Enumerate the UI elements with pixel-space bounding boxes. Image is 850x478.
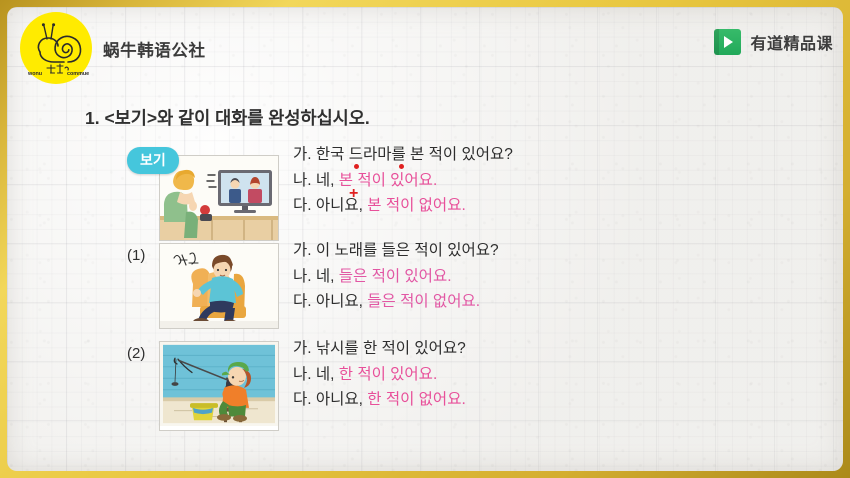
partner-name: 有道精品课 [750,30,833,54]
line-prefix: 나. [293,366,312,383]
line-prefix: 가. [293,340,312,357]
slide-frame: wonu commue 蜗牛韩语公社 有道精品课 1. <보기>와 같이 대화를… [0,0,850,478]
line-text: 네, [312,366,339,383]
dialogue-line-b: 나. 네, 한 적이 있어요. [293,367,466,383]
snail-icon: wonu commue [20,12,92,84]
line-highlight: 들은 적이 있어요. [339,268,452,285]
slide-paper: wonu commue 蜗牛韩语公社 有道精品课 1. <보기>와 같이 대화를… [7,7,843,471]
line-prefix: 가. [293,146,312,163]
thumbnail-listening-music [159,243,279,329]
line-text: 아니요, [312,293,368,310]
dialogue-line-c: 다. 아니요, 본 적이 없어요. [293,198,513,214]
dialogue-line-a: 가. 한국 드라마를 본 적이 있어요? [293,147,513,163]
dialogue-block-example: 가. 한국 드라마를 본 적이 있어요? 나. 네, 본 적이 있어요. + 다… [293,147,513,214]
dialogue-line-a: 가. 이 노래를 들은 적이 있어요? [293,243,499,259]
line-highlight: 들은 적이 없어요. [367,293,480,310]
dialogue-line-c: 다. 아니요, 들은 적이 없어요. [293,294,499,310]
dialogue-block-1: 가. 이 노래를 들은 적이 있어요? 나. 네, 들은 적이 있어요. 다. … [293,243,499,310]
line-prefix: 나. [293,268,312,285]
row-label-1: (1) [127,247,145,264]
partner-logo[interactable]: 有道精品课 [714,29,833,55]
thumbnail-fishing [159,341,279,431]
line-prefix: 나. [293,172,312,189]
question-title: 1. <보기>와 같이 대화를 완성하십시오. [85,105,370,130]
line-prefix: 가. [293,242,312,259]
play-button-icon [714,29,741,55]
svg-text:wonu: wonu [27,71,42,77]
line-highlight: 한 적이 없어요. [367,391,465,408]
annotation-dot [399,164,404,169]
line-text: 아니요, [312,197,368,214]
dialogue-line-a: 가. 낚시를 한 적이 있어요? [293,341,466,357]
line-text: 이 노래를 들은 적이 있어요? [312,242,499,259]
line-prefix: 다. [293,293,312,310]
line-text: 한국 드라마를 본 적이 있어요? [312,146,513,163]
line-text: 네, [312,268,339,285]
brand-name: 蜗牛韩语公社 [103,37,206,61]
annotation-dot [354,164,359,169]
row-label-2: (2) [127,345,145,362]
line-text: 낚시를 한 적이 있어요? [312,340,466,357]
line-prefix: 다. [293,197,312,214]
line-prefix: 다. [293,391,312,408]
dialogue-line-b: 나. 네, 본 적이 있어요. + [293,173,513,189]
dialogue-line-b: 나. 네, 들은 적이 있어요. [293,269,499,285]
line-text: 네, [312,172,339,189]
dialogue-block-2: 가. 낚시를 한 적이 있어요? 나. 네, 한 적이 있어요. 다. 아니요,… [293,341,466,408]
line-text: 아니요, [312,391,368,408]
example-badge: 보기 [127,147,179,174]
dialogue-line-c: 다. 아니요, 한 적이 없어요. [293,392,466,408]
annotation-plus: + [349,186,358,202]
svg-text:commue: commue [67,71,89,77]
line-highlight: 본 적이 없어요. [367,197,465,214]
line-highlight: 한 적이 있어요. [339,366,437,383]
slide-header: wonu commue 蜗牛韩语公社 有道精品课 [7,7,843,79]
